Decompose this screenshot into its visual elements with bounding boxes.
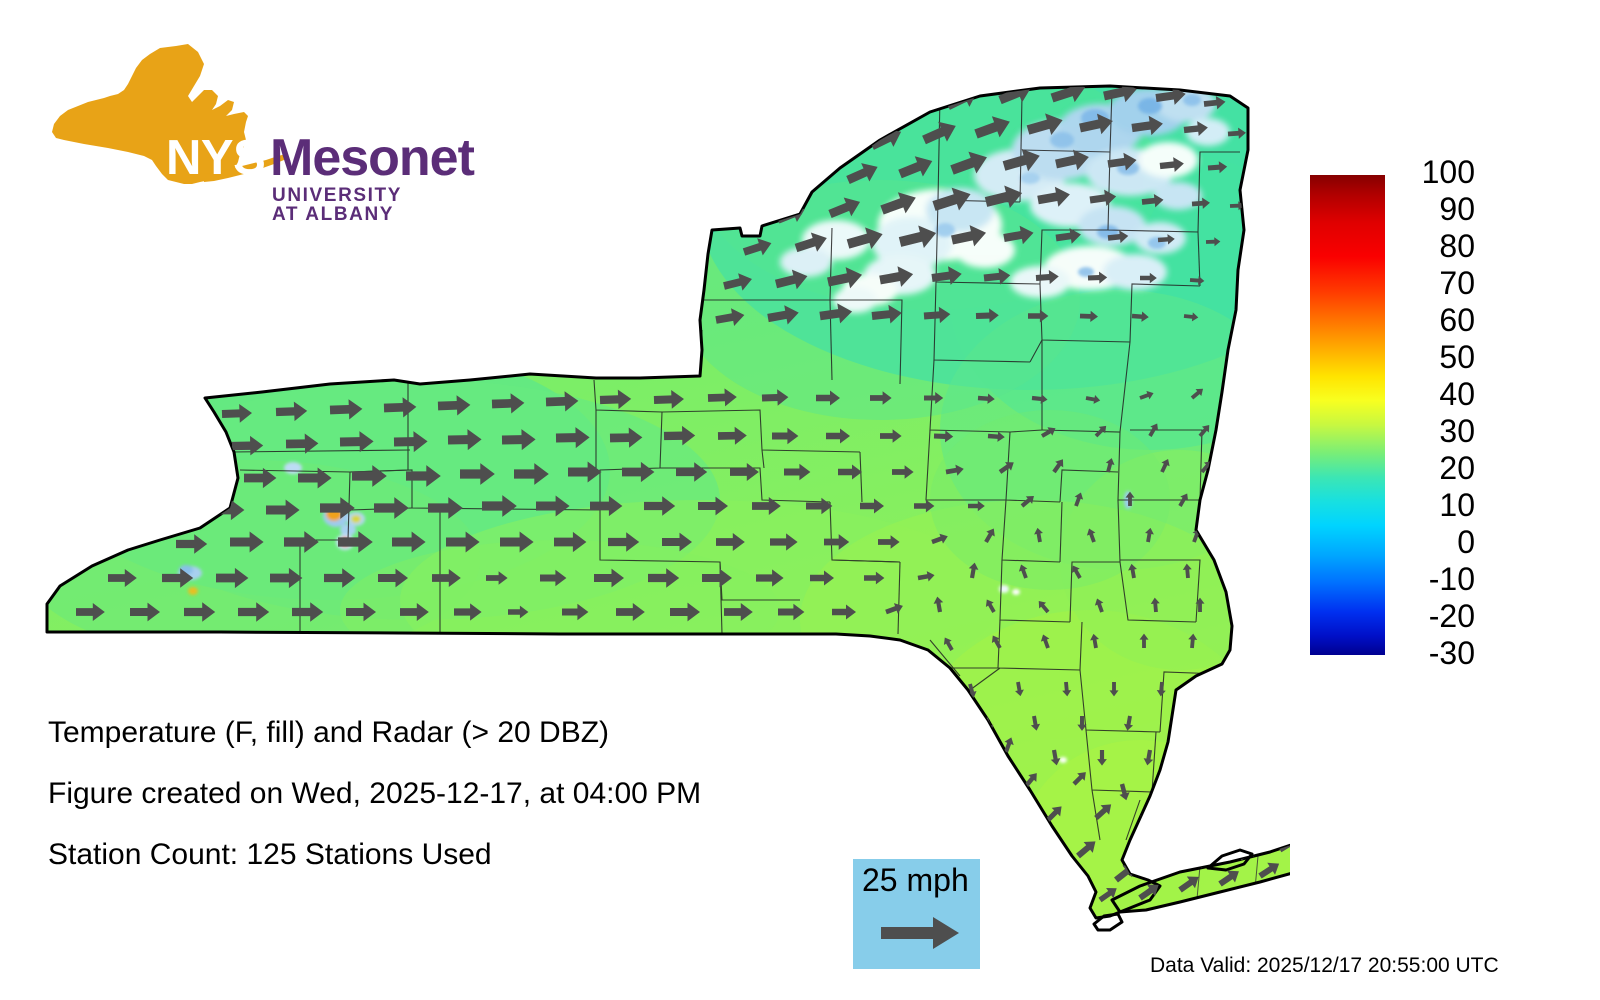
colorbar-tick: 90	[1439, 193, 1475, 225]
caption-block: Temperature (F, fill) and Radar (> 20 DB…	[48, 718, 808, 901]
colorbar-tick: 50	[1439, 341, 1475, 373]
arrow-right-icon	[881, 915, 959, 951]
colorbar-tick-labels: 100 90 80 70 60 50 40 30 20 10 0 -10 -20…	[1400, 156, 1485, 676]
colorbar-tick: -10	[1429, 563, 1475, 595]
colorbar-tick: -20	[1429, 600, 1475, 632]
colorbar-tick: 30	[1439, 415, 1475, 447]
logo-nys-text: NYS	[166, 134, 265, 183]
colorbar-tick: 100	[1422, 156, 1475, 188]
caption-station-count: Station Count: 125 Stations Used	[48, 840, 808, 870]
colorbar-tick: 40	[1439, 378, 1475, 410]
colorbar-tick: 70	[1439, 267, 1475, 299]
colorbar-tick: 80	[1439, 230, 1475, 262]
caption-title: Temperature (F, fill) and Radar (> 20 DB…	[48, 718, 808, 748]
colorbar-gradient	[1310, 175, 1385, 655]
wind-scale-label: 25 mph	[862, 864, 969, 896]
logo-university-text: UNIVERSITY AT ALBANY	[272, 186, 408, 224]
nys-mesonet-logo: NYS Mesonet UNIVERSITY AT ALBANY	[48, 44, 408, 189]
colorbar-tick: 10	[1439, 489, 1475, 521]
logo-mesonet-text: Mesonet	[270, 132, 474, 184]
caption-created: Figure created on Wed, 2025-12-17, at 04…	[48, 779, 808, 809]
colorbar-tick: 20	[1439, 452, 1475, 484]
wind-scale-legend: 25 mph	[853, 859, 980, 969]
colorbar-tick: 60	[1439, 304, 1475, 336]
colorbar-tick: -30	[1429, 637, 1475, 669]
temperature-colorbar: 100 90 80 70 60 50 40 30 20 10 0 -10 -20…	[1310, 175, 1485, 660]
colorbar-tick: 0	[1457, 526, 1475, 558]
data-valid-timestamp: Data Valid: 2025/12/17 20:55:00 UTC	[1150, 955, 1499, 976]
